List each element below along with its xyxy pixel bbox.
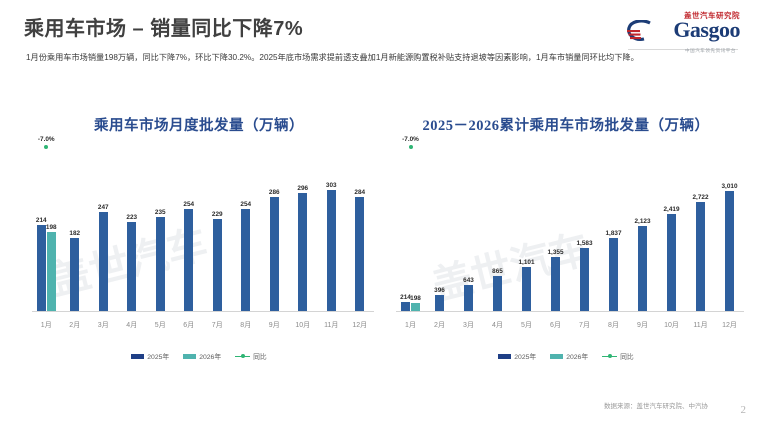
bar-value-label: 1,583: [577, 240, 593, 247]
x-axis-cumulative: [396, 311, 744, 312]
bar-2025年[interactable]: 303: [327, 190, 336, 311]
bar-2025年[interactable]: 643: [464, 285, 473, 311]
yoy-value-label: -7.0%: [32, 136, 61, 143]
bar-2025年[interactable]: 214: [37, 225, 46, 311]
legend-swatch-2026-icon: [550, 354, 563, 359]
bar-value-label: 286: [269, 189, 280, 196]
x-axis-tick-label: 2月: [61, 320, 90, 330]
legend-item-2025[interactable]: 2025年: [131, 351, 169, 361]
bar-2025年[interactable]: 2,419: [667, 214, 676, 311]
x-axis-tick-label: 8月: [232, 320, 261, 330]
page-number: 2: [741, 404, 747, 416]
bar-2025年[interactable]: 2,123: [638, 226, 647, 311]
bar-2025年[interactable]: 235: [156, 217, 165, 311]
bar-2025年[interactable]: 3,010: [725, 191, 734, 311]
bar-2025年[interactable]: 296: [298, 193, 307, 311]
bar-group: 235: [146, 152, 175, 311]
x-axis-tick-label: 7月: [570, 320, 599, 330]
bar-value-label: 396: [434, 287, 445, 294]
x-axis-tick-label: 8月: [599, 320, 628, 330]
gasgoo-logo: 盖世汽车研究院 Gasgoo 中国汽车领先资讯平台: [624, 8, 742, 52]
legend-swatch-2025-icon: [498, 354, 511, 359]
x-axis-tick-label: 9月: [628, 320, 657, 330]
bar-value-label: 303: [326, 182, 337, 189]
plot-area-cumulative: 214198-7.0%3966438651,1011,3551,5831,837…: [382, 152, 750, 334]
x-axis-tick-label: 1月: [396, 320, 425, 330]
bar-2025年[interactable]: 1,101: [522, 267, 531, 311]
logo-mark-icon: [626, 20, 652, 42]
x-axis-tick-label: 7月: [203, 320, 232, 330]
legend-label-yoy: 同比: [253, 351, 267, 361]
x-axis-monthly: [32, 311, 374, 312]
bar-value-label: 1,355: [548, 249, 564, 256]
bar-group: 1,583: [570, 152, 599, 311]
legend-cumulative: 2025年 2026年 同比: [382, 351, 750, 361]
yoy-dot-icon: [409, 145, 413, 149]
bars-cumulative: 214198-7.0%3966438651,1011,3551,5831,837…: [396, 152, 744, 311]
x-axis-tick-label: 3月: [454, 320, 483, 330]
bar-2025年[interactable]: 2,722: [696, 202, 705, 311]
legend-item-2026[interactable]: 2026年: [183, 351, 221, 361]
chart-title-monthly: 乘用车市场月度批发量（万辆）: [18, 114, 380, 135]
bar-group: 284: [346, 152, 375, 311]
bar-value-label: 1,837: [606, 230, 622, 237]
x-axis-tick-label: 11月: [317, 320, 346, 330]
bar-group: 2,722: [686, 152, 715, 311]
bar-2025年[interactable]: 286: [270, 197, 279, 311]
bar-group: 182: [61, 152, 90, 311]
slide-description: 1月份乘用车市场销量198万辆，同比下降7%，环比下降30.2%。2025年底市…: [26, 52, 738, 64]
bar-group: 254: [232, 152, 261, 311]
bar-2025年[interactable]: 229: [213, 219, 222, 311]
legend-swatch-2026-icon: [183, 354, 196, 359]
x-axis-labels-monthly: 1月2月3月4月5月6月7月8月9月10月11月12月: [32, 320, 374, 330]
chart-cumulative-wholesale: 2025－2026累计乘用车市场批发量（万辆） 214198-7.0%39664…: [382, 108, 750, 373]
bar-2025年[interactable]: 396: [435, 295, 444, 311]
legend-item-yoy[interactable]: 同比: [235, 351, 267, 361]
bar-value-label: 2,123: [635, 218, 651, 225]
legend-item-2025[interactable]: 2025年: [498, 351, 536, 361]
bar-2025年[interactable]: 223: [127, 222, 136, 311]
bar-group: 214198-7.0%: [32, 152, 61, 311]
legend-label-2026: 2026年: [199, 351, 221, 361]
bar-2025年[interactable]: 182: [70, 238, 79, 311]
bar-2026年[interactable]: 198: [47, 232, 56, 311]
x-axis-tick-label: 6月: [541, 320, 570, 330]
bar-value-label: 296: [297, 185, 308, 192]
x-axis-tick-label: 5月: [512, 320, 541, 330]
legend-label-2026: 2026年: [566, 351, 588, 361]
bar-group: 296: [289, 152, 318, 311]
x-axis-tick-label: 4月: [483, 320, 512, 330]
bar-value-label: 643: [463, 277, 474, 284]
bars-monthly: 214198-7.0%18224722323525422925428629630…: [32, 152, 374, 311]
plot-area-monthly: 214198-7.0%18224722323525422925428629630…: [18, 152, 380, 334]
bar-group: 286: [260, 152, 289, 311]
yoy-marker[interactable]: -7.0%: [32, 136, 61, 149]
legend-monthly: 2025年 2026年 同比: [18, 351, 380, 361]
x-axis-tick-label: 6月: [175, 320, 204, 330]
bar-group: 229: [203, 152, 232, 311]
bar-group: 1,101: [512, 152, 541, 311]
bar-value-label: 182: [69, 230, 80, 237]
bar-value-label: 865: [492, 268, 503, 275]
logo-brand-text: Gasgoo: [673, 17, 740, 43]
x-axis-tick-label: 5月: [146, 320, 175, 330]
x-axis-tick-label: 12月: [346, 320, 375, 330]
legend-label-yoy: 同比: [620, 351, 634, 361]
bar-group: 396: [425, 152, 454, 311]
bar-value-label: 254: [183, 201, 194, 208]
x-axis-tick-label: 4月: [118, 320, 147, 330]
bar-group: 2,123: [628, 152, 657, 311]
yoy-dot-icon: [44, 145, 48, 149]
x-axis-tick-label: 10月: [289, 320, 318, 330]
bar-value-label: 235: [155, 209, 166, 216]
bar-group: 643: [454, 152, 483, 311]
bar-2025年[interactable]: 1,837: [609, 238, 618, 311]
bar-value-label: 198: [410, 295, 421, 302]
legend-label-2025: 2025年: [514, 351, 536, 361]
slide-root: 乘用车市场 – 销量同比下降7% 盖世汽车研究院 Gasgoo 中国汽车领先资讯…: [0, 0, 760, 428]
bar-value-label: 223: [126, 214, 137, 221]
bar-group: 865: [483, 152, 512, 311]
bar-group: 254: [175, 152, 204, 311]
x-axis-tick-label: 12月: [715, 320, 744, 330]
x-axis-tick-label: 3月: [89, 320, 118, 330]
bar-group: 2,419: [657, 152, 686, 311]
bar-value-label: 254: [240, 201, 251, 208]
bar-value-label: 284: [354, 189, 365, 196]
bar-2025年[interactable]: 1,583: [580, 248, 589, 311]
bar-2025年[interactable]: 865: [493, 276, 502, 311]
bar-2025年[interactable]: 254: [184, 209, 193, 311]
bar-group: 214198-7.0%: [396, 152, 425, 311]
legend-swatch-2025-icon: [131, 354, 144, 359]
yoy-marker[interactable]: -7.0%: [396, 136, 425, 149]
bar-value-label: 198: [46, 224, 57, 231]
bar-2025年[interactable]: 1,355: [551, 257, 560, 311]
bar-group: 247: [89, 152, 118, 311]
chart-title-cumulative: 2025－2026累计乘用车市场批发量（万辆）: [382, 114, 750, 135]
x-axis-tick-label: 2月: [425, 320, 454, 330]
bar-value-label: 229: [212, 211, 223, 218]
legend-item-2026[interactable]: 2026年: [550, 351, 588, 361]
bar-2025年[interactable]: 284: [355, 197, 364, 311]
legend-line-yoy-icon: [602, 354, 617, 359]
bar-group: 3,010: [715, 152, 744, 311]
bar-group: 303: [317, 152, 346, 311]
bar-group: 1,837: [599, 152, 628, 311]
source-note: 数据来源：盖世汽车研究院、中汽协: [604, 400, 708, 410]
x-axis-labels-cumulative: 1月2月3月4月5月6月7月8月9月10月11月12月: [396, 320, 744, 330]
bar-value-label: 3,010: [722, 183, 738, 190]
bar-2025年[interactable]: 247: [99, 212, 108, 311]
page-title: 乘用车市场 – 销量同比下降7%: [24, 12, 303, 41]
legend-item-yoy[interactable]: 同比: [602, 351, 634, 361]
bar-2025年[interactable]: 254: [241, 209, 250, 311]
x-axis-tick-label: 9月: [260, 320, 289, 330]
x-axis-tick-label: 10月: [657, 320, 686, 330]
yoy-value-label: -7.0%: [396, 136, 425, 143]
chart-monthly-wholesale: 乘用车市场月度批发量（万辆） 214198-7.0%18224722323525…: [18, 108, 380, 373]
bar-2026年[interactable]: 198: [411, 303, 420, 311]
bar-value-label: 2,419: [664, 206, 680, 213]
bar-group: 1,355: [541, 152, 570, 311]
x-axis-tick-label: 11月: [686, 320, 715, 330]
legend-line-yoy-icon: [235, 354, 250, 359]
bar-group: 223: [118, 152, 147, 311]
x-axis-tick-label: 1月: [32, 320, 61, 330]
bar-value-label: 2,722: [693, 194, 709, 201]
bar-value-label: 1,101: [519, 259, 535, 266]
bar-value-label: 247: [98, 204, 109, 211]
legend-label-2025: 2025年: [147, 351, 169, 361]
bar-2025年[interactable]: 214: [401, 302, 410, 311]
